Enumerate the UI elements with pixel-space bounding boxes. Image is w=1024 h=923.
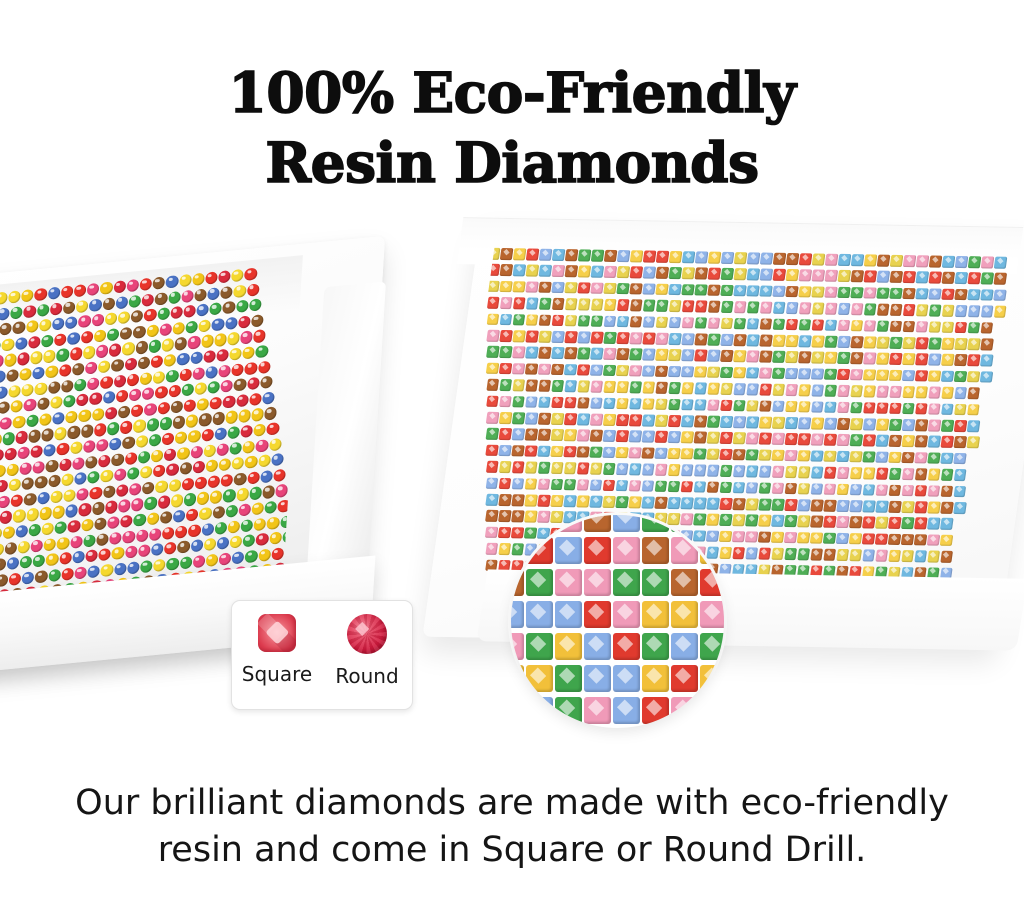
square-drill [824, 336, 837, 348]
round-bead [0, 495, 10, 508]
round-bead [155, 292, 168, 305]
round-bead [0, 401, 10, 414]
square-drill [499, 461, 512, 473]
square-drill [929, 288, 942, 300]
round-bead [37, 491, 50, 504]
round-bead [181, 289, 194, 302]
square-drill [850, 336, 863, 348]
round-bead [227, 520, 240, 533]
square-drill [771, 482, 784, 494]
round-bead [94, 423, 107, 436]
round-bead [181, 383, 194, 396]
square-drill [590, 332, 603, 344]
square-drill [642, 447, 655, 459]
round-bead [253, 329, 266, 342]
round-bead [249, 393, 262, 406]
square-drill [655, 333, 668, 345]
round-bead [2, 526, 15, 539]
round-bead [183, 305, 196, 318]
square-drill [589, 479, 602, 491]
square-drill [563, 479, 576, 491]
round-bead [236, 300, 249, 313]
square-drill [889, 304, 902, 316]
square-drill [499, 445, 512, 457]
square-drill [694, 333, 707, 345]
square-drill-closeup-circle [511, 515, 724, 728]
round-bead [150, 355, 163, 368]
round-bead [122, 342, 135, 355]
square-drill [604, 250, 617, 262]
square-drill [524, 478, 537, 490]
square-drill [876, 386, 889, 398]
square-drill [889, 337, 902, 349]
square-drill [954, 436, 967, 448]
square-drill [564, 364, 577, 376]
closeup-square-drill [613, 537, 640, 564]
square-drill [903, 255, 916, 267]
round-bead [231, 269, 244, 282]
square-drill [681, 333, 694, 345]
square-drill [928, 354, 941, 366]
square-drill [616, 332, 629, 344]
square-drill [694, 317, 707, 329]
round-bead [50, 302, 63, 315]
square-drill [550, 478, 563, 490]
square-drill [487, 281, 500, 293]
round-bead [131, 498, 144, 511]
round-bead [15, 525, 28, 538]
square-drill [863, 353, 876, 365]
round-bead [0, 574, 8, 587]
square-drill [902, 321, 915, 333]
square-drill [823, 467, 836, 479]
square-drill [499, 428, 512, 440]
square-drill [512, 330, 525, 342]
square-drill [836, 533, 849, 545]
square-drill [876, 435, 889, 447]
square-drill [538, 347, 551, 359]
round-bead [4, 353, 17, 366]
square-drill [693, 465, 706, 477]
square-drill [602, 479, 615, 491]
square-drill [695, 251, 708, 263]
round-bead [175, 525, 188, 538]
square-drill [889, 402, 902, 414]
closeup-square-drill [613, 697, 640, 724]
round-bead [0, 511, 13, 524]
round-bead [244, 268, 257, 281]
round-bead [72, 363, 85, 376]
round-bead [26, 320, 39, 333]
round-bead [192, 273, 205, 286]
round-bead [24, 493, 37, 506]
square-drill [927, 501, 940, 513]
square-drill [941, 420, 954, 432]
square-drill [604, 283, 617, 295]
round-bead [157, 401, 170, 414]
round-bead [192, 367, 205, 380]
round-bead [197, 492, 210, 505]
round-bead [214, 521, 227, 534]
closeup-square-drill [526, 697, 553, 724]
square-drill [525, 445, 538, 457]
square-drill [746, 449, 759, 461]
round-bead [122, 436, 135, 449]
square-drill [914, 468, 927, 480]
closeup-square-drill [700, 515, 724, 532]
square-drill [954, 371, 967, 383]
square-drill [928, 337, 941, 349]
round-bead [54, 333, 67, 346]
square-drill [616, 381, 629, 393]
round-bead [52, 411, 65, 424]
square-drill [525, 330, 538, 342]
square-drill [511, 494, 524, 506]
round-bead [105, 406, 118, 419]
closeup-square-drill [671, 537, 698, 564]
square-drill [863, 435, 876, 447]
square-drill [772, 384, 785, 396]
square-drill [512, 396, 525, 408]
round-bead [238, 409, 251, 422]
square-drill [500, 248, 513, 260]
square-drill [551, 446, 564, 458]
closeup-square-drill [642, 665, 669, 692]
square-drill [616, 348, 629, 360]
round-bead [170, 494, 183, 507]
round-bead [208, 475, 221, 488]
square-drill [655, 398, 668, 410]
round-bead [262, 485, 275, 498]
round-bead [214, 333, 227, 346]
square-drill [940, 535, 953, 547]
square-drill [642, 398, 655, 410]
round-bead [52, 505, 65, 518]
square-drill [538, 314, 551, 326]
round-bead [0, 323, 12, 336]
square-drill [837, 336, 850, 348]
closeup-square-drill [613, 569, 640, 596]
square-drill [851, 287, 864, 299]
square-drill [980, 338, 993, 350]
square-drill [759, 335, 772, 347]
square-drill [538, 380, 551, 392]
square-drill [629, 463, 642, 475]
round-bead [131, 404, 144, 417]
square-drill [668, 349, 681, 361]
square-drill [669, 284, 682, 296]
round-bead [118, 499, 131, 512]
square-drill [968, 273, 981, 285]
square-drill [864, 254, 877, 266]
round-bead [55, 521, 68, 534]
square-drill [811, 417, 824, 429]
square-drill [810, 499, 823, 511]
square-drill [577, 430, 590, 442]
square-drill [564, 413, 577, 425]
square-drill [849, 549, 862, 561]
square-drill [903, 271, 916, 283]
square-drill [954, 404, 967, 416]
closeup-square-drill [511, 537, 524, 564]
square-drill [681, 317, 694, 329]
square-drill [877, 287, 890, 299]
round-bead [43, 350, 56, 363]
square-drill [955, 289, 968, 301]
round-bead [15, 337, 28, 350]
square-drill [603, 397, 616, 409]
square-drill [642, 349, 655, 361]
square-drill [577, 381, 590, 393]
round-bead [126, 373, 139, 386]
closeup-square-drill [700, 569, 724, 596]
square-drill [525, 412, 538, 424]
square-drill [980, 371, 993, 383]
round-bead [0, 464, 6, 477]
square-drill [733, 383, 746, 395]
round-bead [253, 423, 266, 436]
round-bead [72, 551, 85, 564]
square-drill [941, 436, 954, 448]
square-drill [759, 417, 772, 429]
round-bead [247, 283, 260, 296]
square-drill [486, 395, 499, 407]
square-drill [902, 353, 915, 365]
round-bead [170, 306, 183, 319]
square-drill [850, 435, 863, 447]
square-drill [500, 297, 513, 309]
square-drill [760, 253, 773, 265]
square-drill [863, 336, 876, 348]
square-drill [798, 352, 811, 364]
square-drill [954, 338, 967, 350]
square-drill [810, 516, 823, 528]
closeup-square-drill [555, 665, 582, 692]
round-bead [8, 290, 21, 303]
round-gem-icon [347, 614, 387, 654]
square-drill [602, 496, 615, 508]
round-bead [258, 454, 271, 467]
square-drill [797, 516, 810, 528]
square-drill [550, 495, 563, 507]
square-drill [720, 334, 733, 346]
square-drill [890, 255, 903, 267]
round-bead [236, 394, 249, 407]
round-bead [91, 314, 104, 327]
square-drill [824, 368, 837, 380]
round-bead [44, 538, 57, 551]
round-bead [56, 348, 69, 361]
round-bead [190, 351, 203, 364]
square-drill [669, 267, 682, 279]
square-drill [576, 495, 589, 507]
square-drill [928, 321, 941, 333]
round-bead [89, 486, 102, 499]
square-drill [513, 297, 526, 309]
square-drill [784, 532, 797, 544]
round-bead [148, 340, 161, 353]
square-drill [785, 401, 798, 413]
square-drill [901, 485, 914, 497]
round-bead [118, 311, 131, 324]
square-drill [706, 465, 719, 477]
round-bead [87, 471, 100, 484]
square-drill [903, 288, 916, 300]
round-bead [172, 416, 185, 429]
round-bead [258, 548, 271, 561]
square-drill [954, 322, 967, 334]
square-drill [759, 351, 772, 363]
square-drill [641, 480, 654, 492]
square-drill [825, 270, 838, 282]
square-drill [875, 468, 888, 480]
round-bead [267, 422, 280, 435]
square-drill [564, 397, 577, 409]
round-bead [109, 531, 122, 544]
square-drill [643, 267, 656, 279]
round-bead [203, 444, 216, 457]
round-bead [124, 358, 137, 371]
round-bead [57, 442, 70, 455]
square-drill [746, 351, 759, 363]
square-drill [526, 265, 539, 277]
square-drill [591, 250, 604, 262]
round-bead [146, 512, 159, 525]
square-drill [836, 549, 849, 561]
square-drill [915, 436, 928, 448]
square-drill [682, 268, 695, 280]
square-drill [537, 478, 550, 490]
closeup-square-drill [584, 569, 611, 596]
square-drill [876, 419, 889, 431]
square-drill [824, 401, 837, 413]
square-drill [719, 481, 732, 493]
closeup-drill-row [511, 515, 724, 534]
round-bead [0, 370, 6, 383]
square-drill [838, 287, 851, 299]
square-drill [486, 412, 499, 424]
square-drill [577, 348, 590, 360]
square-drill [590, 381, 603, 393]
square-drill [603, 332, 616, 344]
square-drill [953, 469, 966, 481]
square-drill [733, 416, 746, 428]
square-drill [915, 386, 928, 398]
square-drill [668, 366, 681, 378]
square-drill [499, 412, 512, 424]
closeup-square-drill [555, 697, 582, 724]
round-bead [69, 347, 82, 360]
round-bead [221, 474, 234, 487]
square-drill [849, 533, 862, 545]
square-drill [850, 320, 863, 332]
round-bead [205, 271, 218, 284]
round-bead [125, 546, 138, 559]
square-drill [629, 299, 642, 311]
round-bead [138, 450, 151, 463]
round-bead [199, 507, 212, 520]
round-bead [153, 464, 166, 477]
round-bead [59, 552, 72, 565]
round-bead [190, 539, 203, 552]
round-bead [72, 457, 85, 470]
square-drill [720, 367, 733, 379]
round-bead [210, 490, 223, 503]
round-bead [164, 542, 177, 555]
round-bead [30, 539, 43, 552]
round-bead [214, 427, 227, 440]
round-bead [152, 276, 165, 289]
square-drill [524, 494, 537, 506]
square-drill [888, 501, 901, 513]
round-bead [76, 393, 89, 406]
square-drill [539, 298, 552, 310]
square-drill [681, 382, 694, 394]
square-drill [994, 273, 1007, 285]
round-bead [59, 458, 72, 471]
square-drill [708, 284, 721, 296]
square-drill [591, 299, 604, 311]
round-bead [177, 352, 190, 365]
square-drill [603, 430, 616, 442]
round-bead [269, 532, 282, 545]
round-bead [166, 463, 179, 476]
square-drill [812, 253, 825, 265]
square-drill [667, 481, 680, 493]
square-drill [902, 403, 915, 415]
square-drill [862, 484, 875, 496]
round-bead [19, 462, 32, 475]
closeup-square-drill [671, 569, 698, 596]
square-drill [837, 401, 850, 413]
square-drill [616, 447, 629, 459]
square-drill [655, 349, 668, 361]
round-bead [225, 505, 238, 518]
round-bead [22, 571, 35, 584]
round-bead [103, 485, 116, 498]
round-bead [164, 354, 177, 367]
square-drill [772, 433, 785, 445]
square-drill [902, 452, 915, 464]
round-bead [219, 552, 232, 565]
square-drill [811, 434, 824, 446]
square-drill [941, 453, 954, 465]
square-drill [552, 282, 565, 294]
square-drill [552, 249, 565, 261]
square-drill [577, 397, 590, 409]
square-drill [512, 429, 525, 441]
round-label: Round [335, 665, 398, 687]
round-bead [157, 495, 170, 508]
square-drill [746, 400, 759, 412]
square-drill [889, 435, 902, 447]
round-bead [46, 553, 59, 566]
round-bead [140, 372, 153, 385]
square-drill [734, 268, 747, 280]
square-drill [682, 284, 695, 296]
square-drill [577, 463, 590, 475]
round-bead [243, 440, 256, 453]
round-bead [0, 543, 4, 556]
square-drill [811, 450, 824, 462]
round-bead [223, 395, 236, 408]
square-drill [707, 301, 720, 313]
square-drill [798, 384, 811, 396]
square-drill [785, 384, 798, 396]
square-drill [486, 346, 499, 358]
square-drill [720, 449, 733, 461]
round-bead [267, 516, 280, 529]
